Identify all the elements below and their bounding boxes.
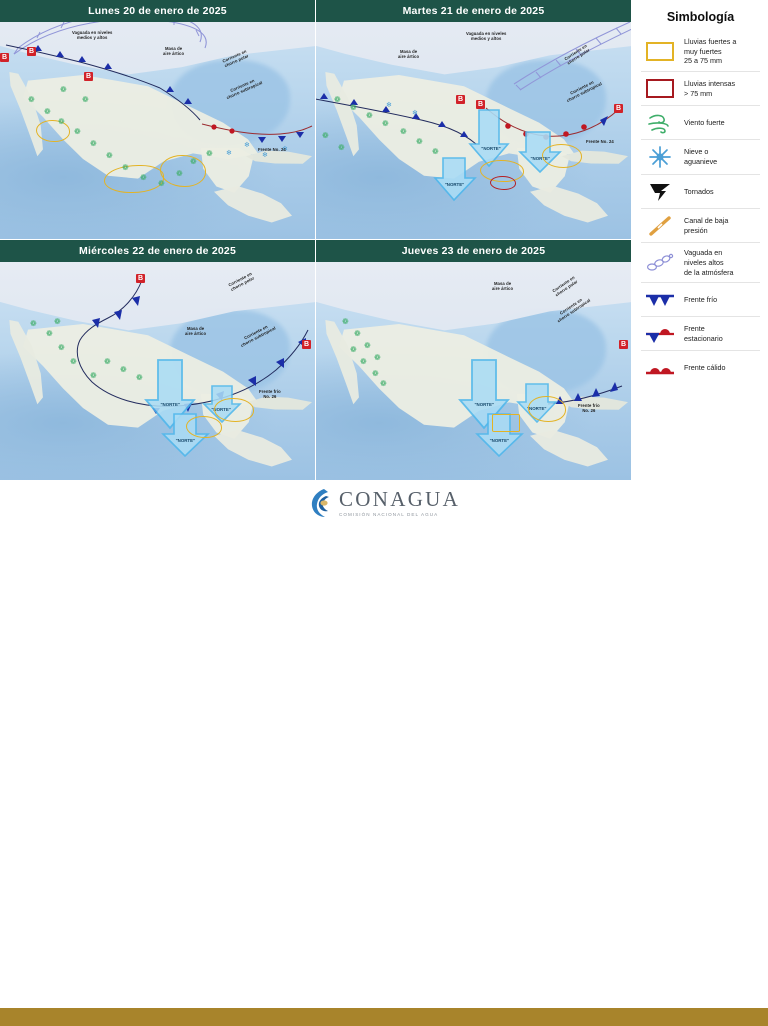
snow-icon: ❄: [226, 150, 232, 157]
strong-wind-icon: ❁: [364, 342, 371, 350]
snow-icon: ❄: [244, 142, 250, 149]
rain-area-yellow-1: [528, 396, 566, 422]
legend-item-label: Frente estacionario: [684, 324, 723, 343]
red-rectangle-swatch-icon: [643, 79, 677, 98]
legend-item-lluvias-intensas[interactable]: Lluvias intensas > 75 mm: [641, 71, 760, 105]
cold-front-icon: [643, 293, 677, 307]
legend-item-tornados[interactable]: Tornados: [641, 174, 760, 208]
legend-item-canal-baja-presion[interactable]: Canal de baja presión: [641, 208, 760, 242]
rain-area-red-intense: [490, 176, 516, 190]
vaguada-label: Vaguada en niveles medios y altos: [72, 31, 112, 41]
panel-jueves[interactable]: Jueves 23 de enero de 2025: [316, 240, 631, 480]
strong-wind-icon: ❁: [54, 318, 61, 326]
legend-item-label: Frente cálido: [684, 363, 726, 373]
front-label: Frente No. 24: [586, 140, 614, 145]
legend-item-viento-fuerte[interactable]: Viento fuerte: [641, 105, 760, 139]
strong-wind-icon: ❁: [44, 108, 51, 116]
vaguada-label: Vaguada en niveles medios y altos: [466, 32, 506, 42]
legend-item-nieve[interactable]: Nieve o aguanieve: [641, 139, 760, 174]
arctic-air-label: Masa de aire ártico: [492, 282, 513, 292]
norte-arrow-label: "NORTE": [176, 438, 196, 443]
low-pressure-marker: B: [136, 274, 145, 283]
legend-item-label: Lluvias fuertes a muy fuertes 25 a 75 mm: [684, 37, 736, 66]
strong-wind-icon: ❁: [136, 374, 143, 382]
strong-wind-icon: ❁: [360, 358, 367, 366]
legend-item-frente-frio[interactable]: Frente frío: [641, 282, 760, 316]
rain-area-yellow-2: [542, 144, 582, 168]
strong-wind-icon: ❁: [338, 144, 345, 152]
low-pressure-marker: B: [302, 340, 311, 349]
strong-wind-icon: ❁: [106, 152, 113, 160]
strong-wind-icon: ❁: [416, 138, 423, 146]
wind-icon: [643, 112, 677, 134]
norte-arrow-3: "NORTE": [436, 156, 478, 209]
strong-wind-icon: ❁: [354, 330, 361, 338]
strong-wind-icon: ❁: [432, 148, 439, 156]
low-pressure-marker: B: [456, 95, 465, 104]
strong-wind-icon: ❁: [90, 140, 97, 148]
map-canvas-martes: "NORTE" "NORTE" "NORTE": [316, 0, 631, 240]
map-canvas-jueves: "NORTE" "NORTE" "NORTE" ❁ ❁: [316, 262, 631, 480]
conagua-wordmark: CONAGUA COMISIÓN NACIONAL DEL AGUA: [339, 489, 460, 517]
panel-miercoles[interactable]: Miércoles 22 de enero de 2025: [0, 240, 315, 480]
organization-subtitle: COMISIÓN NACIONAL DEL AGUA: [339, 512, 460, 517]
strong-wind-icon: ❁: [382, 120, 389, 128]
yellow-rectangle-swatch-icon: [643, 42, 677, 61]
low-pressure-marker: B: [0, 53, 9, 62]
arctic-air-label: Masa de aire ártico: [163, 47, 184, 57]
norte-arrow-label: "NORTE": [490, 438, 510, 443]
arctic-air-label: Masa de aire ártico: [185, 327, 206, 337]
legend-item-label: Lluvias intensas > 75 mm: [684, 79, 735, 98]
panel-divider-vertical: [315, 0, 316, 480]
strong-wind-icon: ❁: [190, 158, 197, 166]
strong-wind-icon: ❁: [58, 344, 65, 352]
strong-wind-icon: ❁: [366, 112, 373, 120]
legend-item-frente-estacionario[interactable]: Frente estacionario: [641, 316, 760, 350]
front-label: Frente frío No. 26: [578, 404, 600, 414]
front-label: Frente No. 24: [258, 148, 286, 153]
strong-wind-icon: ❁: [372, 370, 379, 378]
norte-arrow-label: "NORTE": [481, 146, 501, 151]
strong-wind-icon: ❁: [374, 354, 381, 362]
strong-wind-icon: ❁: [60, 86, 67, 94]
legend-item-label: Viento fuerte: [684, 118, 725, 128]
panel-divider-horizontal: [0, 239, 631, 240]
panel-title-martes: Martes 21 de enero de 2025: [316, 0, 631, 22]
legend-title: Simbología: [641, 10, 760, 24]
weather-forecast-infographic: ❁ ❁ ❁ ❁ ❁ ❁ ❁ ❁ ❁ ❁ ❁ ❁ ❁ ❁ ❄ ❄ ❄ ❄ B: [0, 0, 768, 546]
snowflake-icon: [643, 145, 677, 169]
legend-item-label: Canal de baja presión: [684, 216, 728, 235]
legend-item-label: Frente frío: [684, 295, 717, 305]
legend-item-vaguada[interactable]: Vaguada en niveles altos de la atmósfera: [641, 242, 760, 282]
strong-wind-icon: ❁: [90, 372, 97, 380]
legend-item-lluvias-fuertes[interactable]: Lluvias fuertes a muy fuertes 25 a 75 mm: [641, 32, 760, 71]
low-pressure-marker: B: [476, 100, 485, 109]
map-canvas-lunes: ❁ ❁ ❁ ❁ ❁ ❁ ❁ ❁ ❁ ❁ ❁ ❁ ❁ ❁ ❄ ❄ ❄ ❄ B: [0, 0, 315, 240]
conagua-emblem-icon: [308, 488, 334, 518]
strong-wind-icon: ❁: [122, 164, 129, 172]
front-label: Frente frío No. 26: [259, 390, 281, 400]
low-pressure-marker: B: [614, 104, 623, 113]
legend-panel: Simbología Lluvias fuertes a muy fuertes…: [631, 0, 768, 480]
low-pressure-marker: B: [84, 72, 93, 81]
strong-wind-icon: ❁: [74, 128, 81, 136]
panel-martes[interactable]: "NORTE" "NORTE" "NORTE": [316, 0, 631, 240]
snow-icon: ❄: [386, 102, 392, 109]
rain-area-yellow-2: [492, 414, 520, 432]
warm-front-icon: [643, 361, 677, 375]
strong-wind-icon: ❁: [334, 96, 341, 104]
strong-wind-icon: ❁: [350, 104, 357, 112]
strong-wind-icon: ❁: [158, 180, 165, 188]
footer: CONAGUA COMISIÓN NACIONAL DEL AGUA: [0, 480, 768, 546]
strong-wind-icon: ❁: [30, 320, 37, 328]
low-pressure-marker: B: [27, 47, 36, 56]
strong-wind-icon: ❁: [380, 380, 387, 388]
strong-wind-icon: ❁: [342, 318, 349, 326]
strong-wind-icon: ❁: [46, 330, 53, 338]
strong-wind-icon: ❁: [120, 366, 127, 374]
norte-arrow-label: "NORTE": [160, 402, 180, 407]
snow-icon: ❄: [412, 110, 418, 117]
arctic-air-label: Masa de aire ártico: [398, 50, 419, 60]
rain-area-yellow-1: [214, 398, 254, 422]
rain-area-yellow-3: [160, 155, 206, 187]
upper-level-trough-icon: [643, 253, 677, 273]
norte-arrow-label: "NORTE": [474, 402, 494, 407]
strong-wind-icon: ❁: [104, 358, 111, 366]
map-canvas-miercoles: "NORTE" "NORTE" "NORTE" ❁ ❁: [0, 262, 315, 480]
strong-wind-icon: ❁: [322, 132, 329, 140]
tornado-icon: [643, 181, 677, 203]
strong-wind-icon: ❁: [350, 346, 357, 354]
panel-title-jueves: Jueves 23 de enero de 2025: [316, 240, 631, 262]
low-pressure-marker: B: [619, 340, 628, 349]
strong-wind-icon: ❁: [58, 118, 65, 126]
stationary-front-icon: [643, 325, 677, 343]
strong-wind-icon: ❁: [206, 150, 213, 158]
panel-title-miercoles: Miércoles 22 de enero de 2025: [0, 240, 315, 262]
legend-item-label: Tornados: [684, 187, 714, 197]
strong-wind-icon: ❁: [70, 358, 77, 366]
panel-lunes[interactable]: ❁ ❁ ❁ ❁ ❁ ❁ ❁ ❁ ❁ ❁ ❁ ❁ ❁ ❁ ❄ ❄ ❄ ❄ B: [0, 0, 315, 240]
norte-arrow-label: "NORTE": [445, 182, 465, 187]
snow-icon: ❄: [262, 152, 268, 159]
footer-gold-bar: [0, 1008, 768, 1026]
maps-grid: ❁ ❁ ❁ ❁ ❁ ❁ ❁ ❁ ❁ ❁ ❁ ❁ ❁ ❁ ❄ ❄ ❄ ❄ B: [0, 0, 631, 480]
panel-title-lunes: Lunes 20 de enero de 2025: [0, 0, 315, 22]
low-pressure-trough-icon: [643, 215, 677, 237]
legend-item-label: Nieve o aguanieve: [684, 147, 717, 166]
strong-wind-icon: ❁: [82, 96, 89, 104]
legend-item-frente-calido[interactable]: Frente cálido: [641, 350, 760, 384]
rain-area-yellow-2: [186, 416, 222, 438]
strong-wind-icon: ❁: [400, 128, 407, 136]
organization-name: CONAGUA: [339, 489, 460, 510]
conagua-logo: CONAGUA COMISIÓN NACIONAL DEL AGUA: [308, 488, 460, 518]
legend-item-label: Vaguada en niveles altos de la atmósfera: [684, 248, 734, 277]
strong-wind-icon: ❁: [176, 170, 183, 178]
strong-wind-icon: ❁: [28, 96, 35, 104]
strong-wind-icon: ❁: [140, 174, 147, 182]
